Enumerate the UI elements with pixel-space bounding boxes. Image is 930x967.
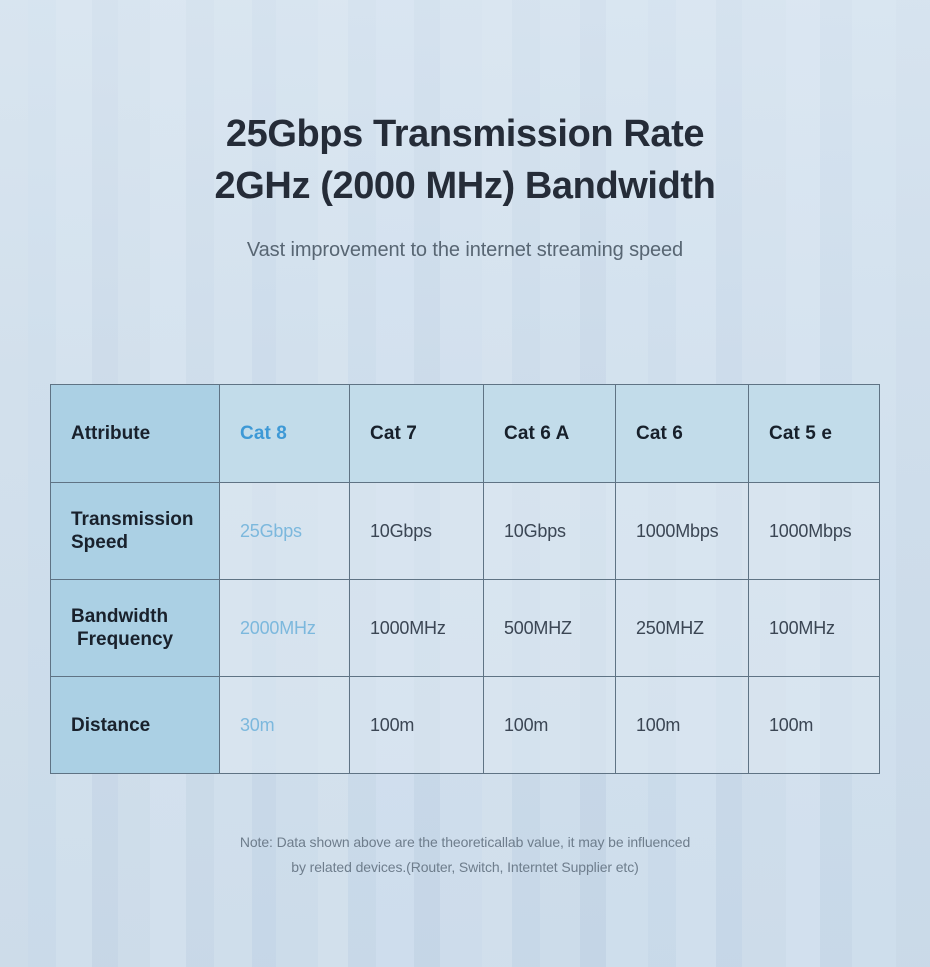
cell-distance-cat5e: 100m <box>749 677 880 774</box>
row-label-line-1: Distance <box>71 714 199 737</box>
spec-table-head: Attribute Cat 8 Cat 7 Cat 6 A Cat 6 Cat … <box>51 385 880 483</box>
footnote-line-1: Note: Data shown above are the theoretic… <box>0 830 930 855</box>
table-header-row: Attribute Cat 8 Cat 7 Cat 6 A Cat 6 Cat … <box>51 385 880 483</box>
cell-bandwidth-frequency-cat5e: 100MHz <box>749 580 880 677</box>
column-header-attribute: Attribute <box>51 385 220 483</box>
cell-bandwidth-frequency-cat6a: 500MHZ <box>484 580 616 677</box>
column-header-cat6: Cat 6 <box>616 385 749 483</box>
cell-transmission-speed-cat6a: 10Gbps <box>484 483 616 580</box>
cell-distance-cat6: 100m <box>616 677 749 774</box>
cell-transmission-speed-cat6: 1000Mbps <box>616 483 749 580</box>
footnote: Note: Data shown above are the theoretic… <box>0 830 930 880</box>
column-header-cat8: Cat 8 <box>220 385 350 483</box>
cell-bandwidth-frequency-cat8: 2000MHz <box>220 580 350 677</box>
spec-table: Attribute Cat 8 Cat 7 Cat 6 A Cat 6 Cat … <box>50 384 880 774</box>
row-label-line-2: Speed <box>71 531 199 554</box>
row-label-line-2: Frequency <box>71 628 199 651</box>
page-subtitle: Vast improvement to the internet streami… <box>0 239 930 262</box>
page-title-line-1: 25Gbps Transmission Rate <box>0 108 930 160</box>
row-label-line-1: Transmission <box>71 508 199 531</box>
row-label-bandwidth-frequency: Bandwidth Frequency <box>51 580 220 677</box>
footnote-line-2: by related devices.(Router, Switch, Inte… <box>0 855 930 880</box>
row-label-line-1: Bandwidth <box>71 605 199 628</box>
infographic-page: 25Gbps Transmission Rate 2GHz (2000 MHz)… <box>0 0 930 967</box>
cell-distance-cat7: 100m <box>350 677 484 774</box>
column-header-cat5e: Cat 5 e <box>749 385 880 483</box>
table-row: Transmission Speed 25Gbps 10Gbps 10Gbps … <box>51 483 880 580</box>
cell-transmission-speed-cat7: 10Gbps <box>350 483 484 580</box>
cell-transmission-speed-cat8: 25Gbps <box>220 483 350 580</box>
page-title-line-2: 2GHz (2000 MHz) Bandwidth <box>0 160 930 212</box>
row-label-transmission-speed: Transmission Speed <box>51 483 220 580</box>
spec-table-body: Transmission Speed 25Gbps 10Gbps 10Gbps … <box>51 483 880 774</box>
row-label-distance: Distance <box>51 677 220 774</box>
table-row: Distance 30m 100m 100m 100m 100m <box>51 677 880 774</box>
header-block: 25Gbps Transmission Rate 2GHz (2000 MHz)… <box>0 108 930 262</box>
table-row: Bandwidth Frequency 2000MHz 1000MHz 500M… <box>51 580 880 677</box>
cell-bandwidth-frequency-cat7: 1000MHz <box>350 580 484 677</box>
cell-bandwidth-frequency-cat6: 250MHZ <box>616 580 749 677</box>
column-header-cat6a: Cat 6 A <box>484 385 616 483</box>
spec-table-wrapper: Attribute Cat 8 Cat 7 Cat 6 A Cat 6 Cat … <box>50 384 879 774</box>
cell-distance-cat6a: 100m <box>484 677 616 774</box>
column-header-cat7: Cat 7 <box>350 385 484 483</box>
cell-transmission-speed-cat5e: 1000Mbps <box>749 483 880 580</box>
cell-distance-cat8: 30m <box>220 677 350 774</box>
